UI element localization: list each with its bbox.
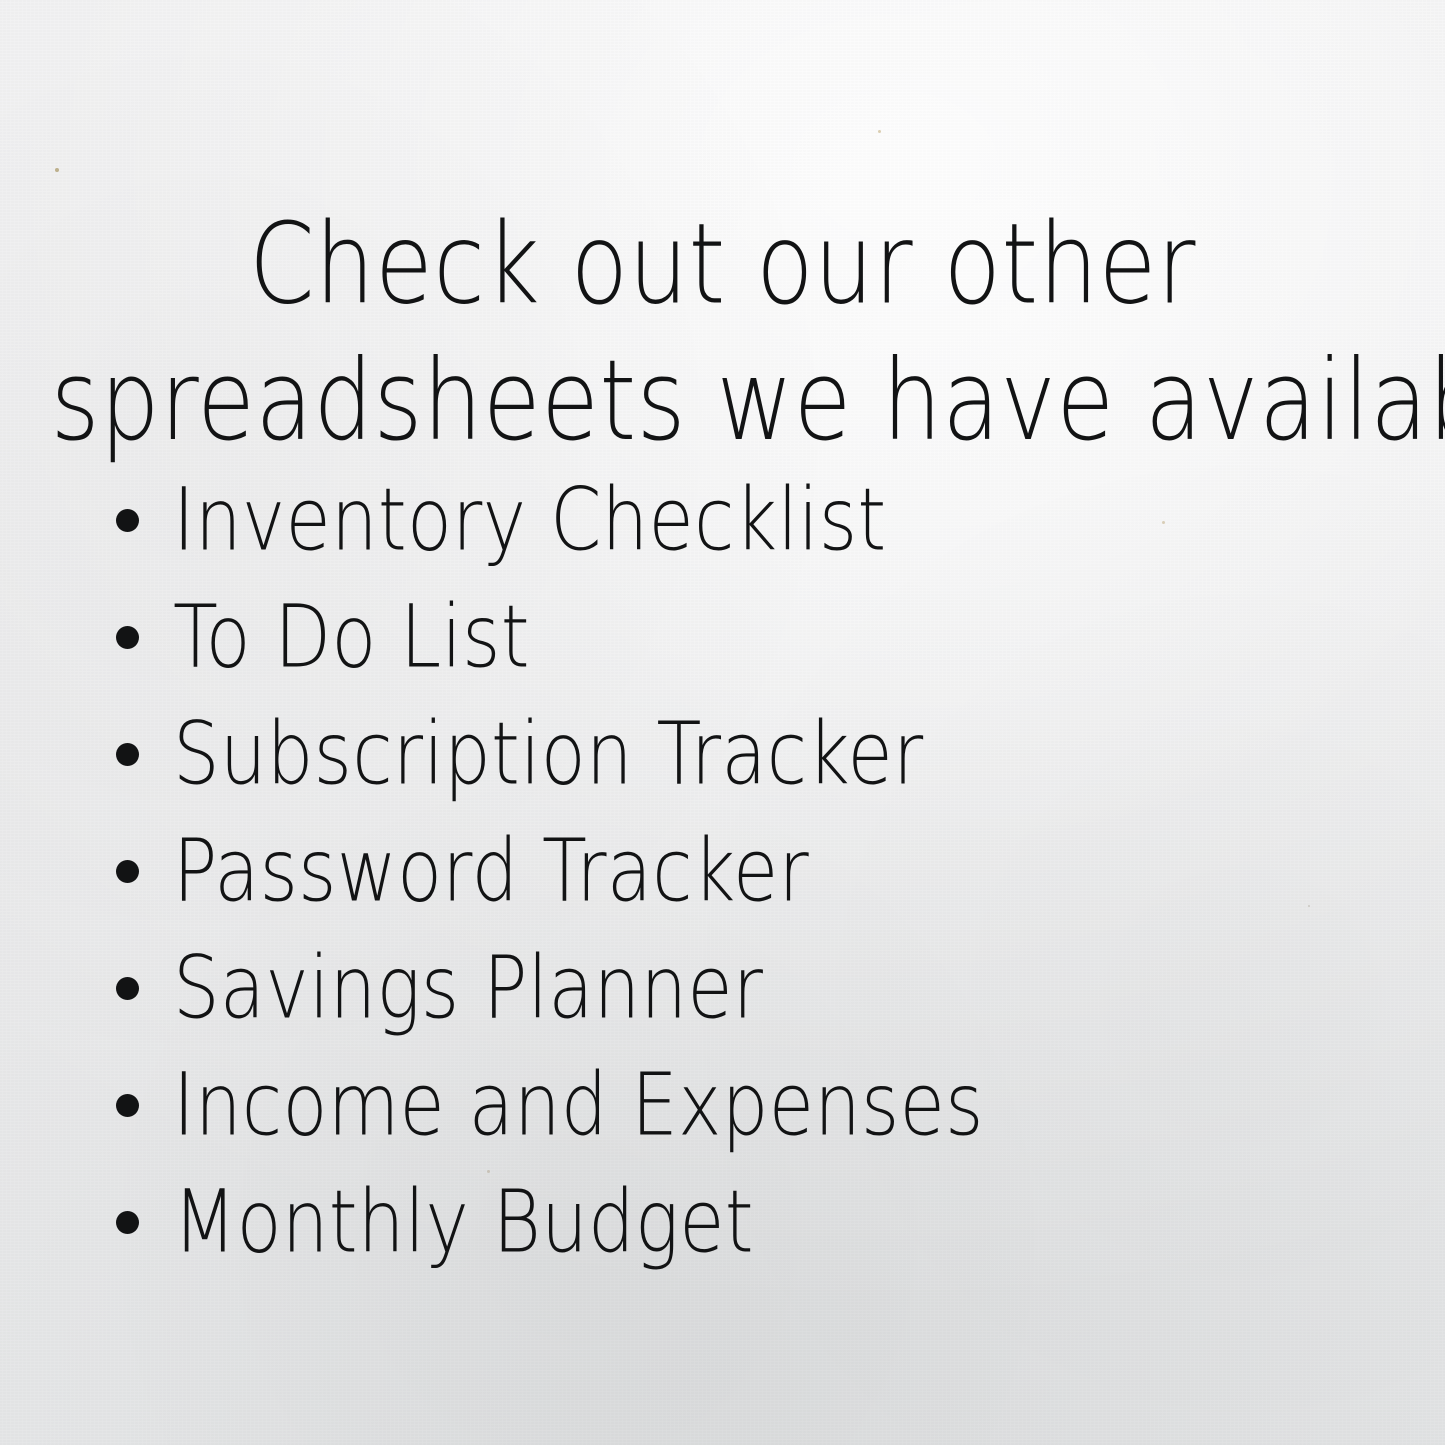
bullet-dot-icon bbox=[116, 743, 139, 766]
list-item-label: Monthly Budget bbox=[173, 1176, 754, 1269]
list-item-label: Inventory Checklist bbox=[173, 474, 886, 567]
list-item-label: To Do List bbox=[173, 591, 530, 684]
list-item-label: Savings Planner bbox=[173, 942, 763, 1035]
bullet-dot-icon bbox=[116, 1211, 139, 1234]
page-title: Check out our other spreadsheets we have… bbox=[51, 196, 1395, 469]
bullet-dot-icon bbox=[116, 509, 139, 532]
spreadsheet-list: Inventory Checklist To Do List Subscript… bbox=[0, 462, 1445, 1281]
poster-canvas: Check out our other spreadsheets we have… bbox=[0, 0, 1445, 1445]
list-item: Income and Expenses bbox=[0, 1047, 1445, 1164]
page-title-line-2: spreadsheets we have available: bbox=[51, 332, 1395, 468]
list-item-label: Password Tracker bbox=[173, 825, 809, 918]
list-item: To Do List bbox=[0, 579, 1445, 696]
poster-content: Check out our other spreadsheets we have… bbox=[0, 0, 1445, 1445]
page-title-line-1: Check out our other bbox=[51, 196, 1395, 332]
bullet-dot-icon bbox=[116, 860, 139, 883]
list-item: Subscription Tracker bbox=[0, 696, 1445, 813]
list-item: Password Tracker bbox=[0, 813, 1445, 930]
list-item: Inventory Checklist bbox=[0, 462, 1445, 579]
list-item: Monthly Budget bbox=[0, 1164, 1445, 1281]
list-item-label: Subscription Tracker bbox=[173, 708, 923, 801]
bullet-dot-icon bbox=[116, 1094, 139, 1117]
list-item: Savings Planner bbox=[0, 930, 1445, 1047]
bullet-dot-icon bbox=[116, 626, 139, 649]
list-item-label: Income and Expenses bbox=[173, 1059, 984, 1152]
bullet-dot-icon bbox=[116, 977, 139, 1000]
